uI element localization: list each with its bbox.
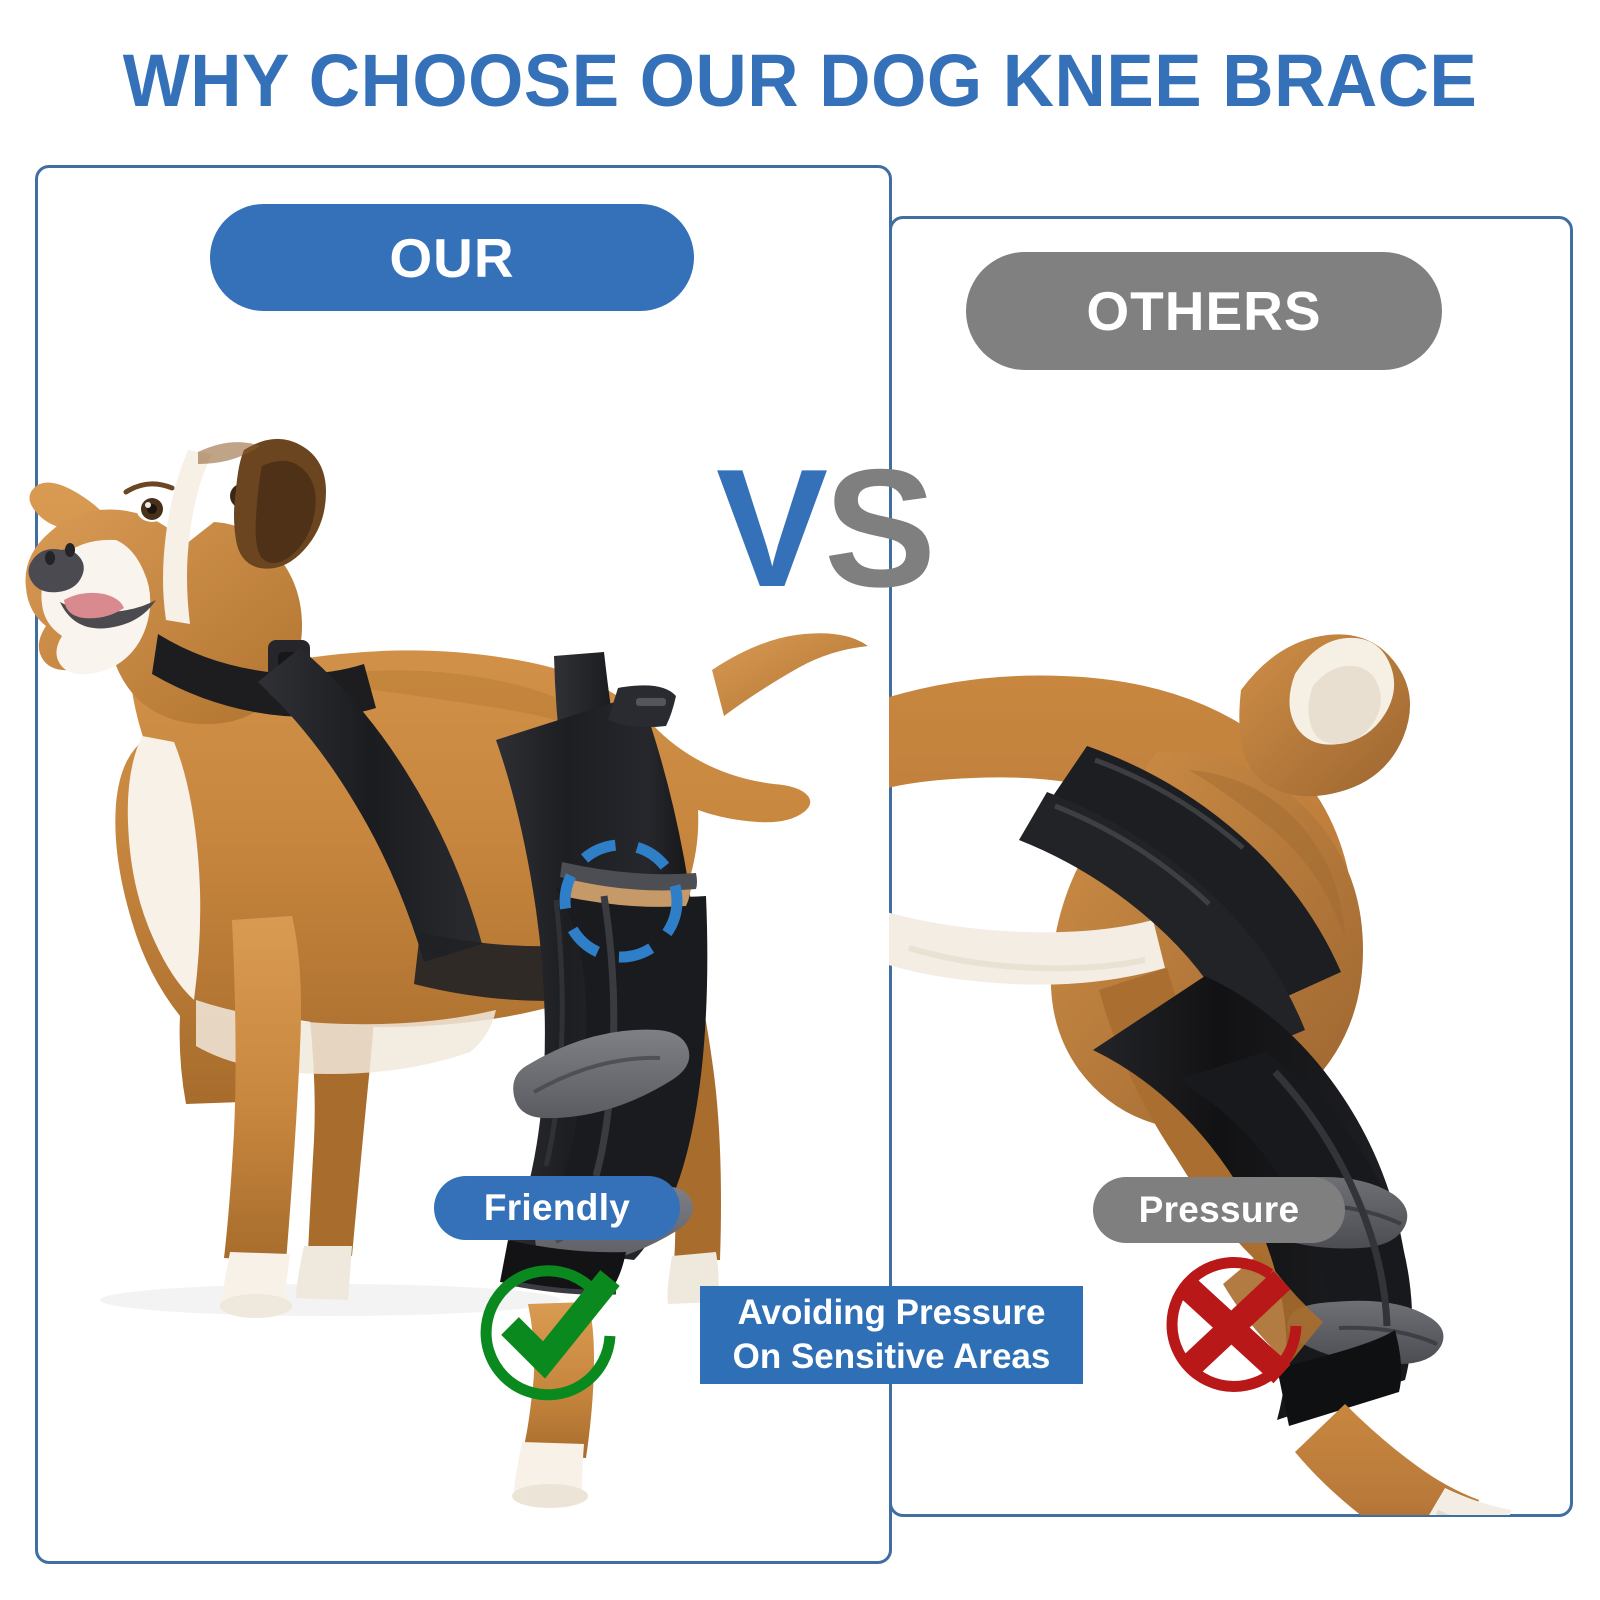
versus-v: V [716, 434, 824, 622]
badge-our[interactable]: OUR [210, 204, 694, 311]
dog-tail [712, 633, 868, 716]
status-badge-friendly-label: Friendly [484, 1187, 630, 1229]
status-badge-pressure[interactable]: Pressure [1093, 1177, 1345, 1243]
page-title: WHY CHOOSE OUR DOG KNEE BRACE [32, 38, 1568, 124]
versus-label: VS [716, 444, 932, 612]
badge-others-label: OTHERS [1086, 279, 1321, 343]
callout-avoiding-pressure: Avoiding Pressure On Sensitive Areas [700, 1286, 1083, 1384]
dashed-circle-icon [556, 836, 686, 966]
callout-line-2: On Sensitive Areas [733, 1335, 1051, 1379]
cross-circle-icon [1158, 1252, 1310, 1404]
infographic-page: WHY CHOOSE OUR DOG KNEE BRACE [0, 0, 1600, 1600]
dog-tail-rear [1239, 634, 1410, 796]
status-badge-pressure-label: Pressure [1139, 1189, 1300, 1231]
status-badge-friendly[interactable]: Friendly [434, 1176, 680, 1240]
badge-our-label: OUR [389, 226, 514, 290]
badge-others[interactable]: OTHERS [966, 252, 1442, 370]
versus-s: S [824, 434, 932, 622]
check-circle-icon [474, 1252, 626, 1404]
dog-near-rear-lower-leg [1295, 1404, 1537, 1515]
callout-line-1: Avoiding Pressure [738, 1291, 1046, 1335]
